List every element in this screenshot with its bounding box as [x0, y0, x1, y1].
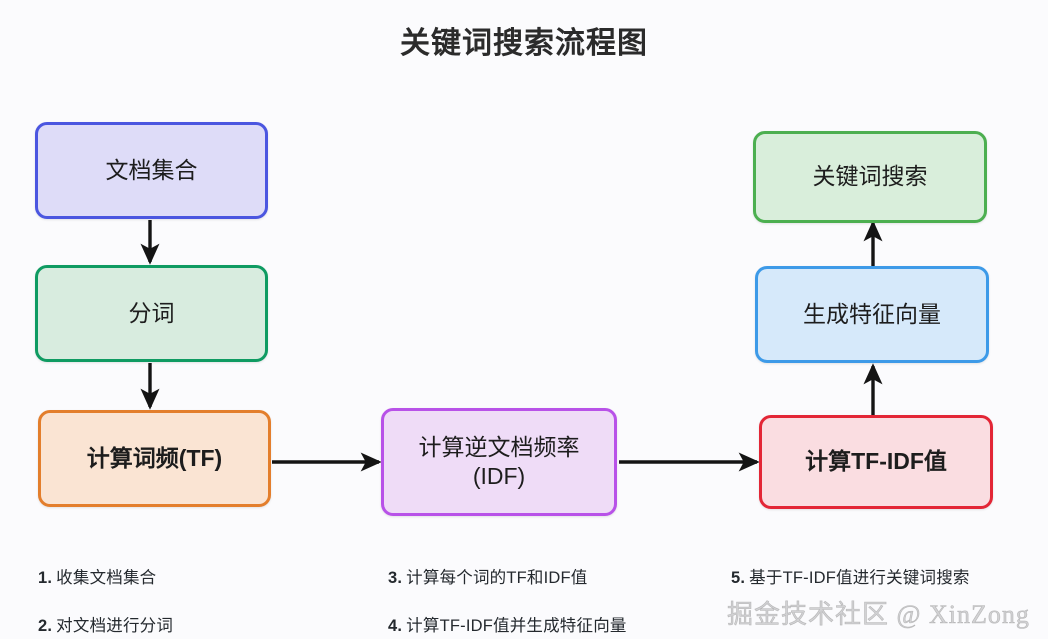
legend-item-5-text: 基于TF-IDF值进行关键词搜索 [749, 569, 969, 587]
legend-item-3-text: 计算每个词的TF和IDF值 [406, 569, 587, 587]
legend-item-3: 3.计算每个词的TF和IDF值 [388, 564, 588, 588]
legend-item-1-text: 收集文档集合 [56, 569, 156, 587]
node-doc-set-label: 文档集合 [106, 156, 198, 185]
legend-item-4-text: 计算TF-IDF值并生成特征向量 [406, 617, 626, 635]
legend-item-2: 2.对文档进行分词 [38, 612, 173, 636]
node-compute-idf[interactable]: 计算逆文档频率 (IDF) [381, 408, 617, 516]
node-keyword-search[interactable]: 关键词搜索 [753, 131, 987, 223]
legend-item-5: 5.基于TF-IDF值进行关键词搜索 [731, 564, 970, 588]
watermark: 掘金技术社区 @ XinZong [727, 594, 1030, 631]
legend-item-5-number: 5. [731, 569, 745, 587]
node-feature-vector-label: 生成特征向量 [803, 300, 941, 329]
legend-item-2-number: 2. [38, 617, 52, 635]
node-compute-tf[interactable]: 计算词频(TF) [38, 410, 271, 507]
node-feature-vector[interactable]: 生成特征向量 [755, 266, 989, 363]
legend-item-1: 1.收集文档集合 [38, 564, 156, 588]
page-title: 关键词搜索流程图 [0, 18, 1048, 62]
legend-item-4: 4.计算TF-IDF值并生成特征向量 [388, 612, 627, 636]
legend-item-3-number: 3. [388, 569, 402, 587]
legend-item-1-number: 1. [38, 569, 52, 587]
legend-item-2-text: 对文档进行分词 [56, 617, 173, 635]
node-compute-tfidf[interactable]: 计算TF-IDF值 [759, 415, 993, 509]
node-compute-idf-label-2: (IDF) [473, 462, 525, 491]
node-doc-set[interactable]: 文档集合 [35, 122, 268, 219]
node-compute-tf-label: 计算词频(TF) [87, 444, 222, 473]
legend-item-4-number: 4. [388, 617, 402, 635]
node-compute-tfidf-label: 计算TF-IDF值 [805, 447, 947, 476]
node-tokenize-label: 分词 [129, 299, 175, 328]
diagram-canvas: 关键词搜索流程图 文档集合 分词 计算词频(TF) 计算逆文档频率 (IDF) … [0, 0, 1048, 639]
node-compute-idf-label: 计算逆文档频率 [419, 433, 580, 462]
node-tokenize[interactable]: 分词 [35, 265, 268, 362]
node-keyword-search-label: 关键词搜索 [813, 162, 928, 191]
